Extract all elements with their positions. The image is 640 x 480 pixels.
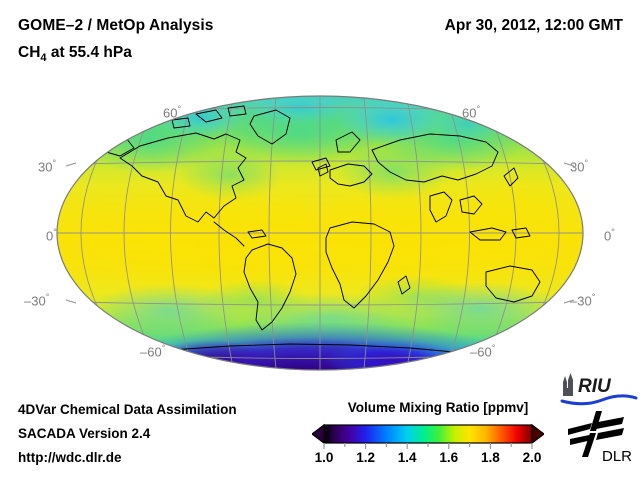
colorbar-tick-label-1: 1.2 [356,450,375,465]
global-map: 60° 60° 30° 30° 0° 0° –30° –30° –60° –60… [0,0,640,400]
colorbar-over-arrow [532,425,544,443]
colorbar-ramp [324,425,532,443]
colorbar-tick-label-4: 1.8 [481,450,500,465]
lat-label-0-left: 0° [46,227,57,243]
footer-line-url[interactable]: http://wdc.dlr.de [18,450,122,465]
colorbar-title: Volume Mixing Ratio [ppmv] [333,400,543,415]
colorbar-tick-label-0: 1.0 [315,450,334,465]
dlr-logo: DLR [566,409,636,465]
map-data-field [50,90,595,400]
lat-label-30n-right: 30° [570,158,588,174]
colorbar-under-arrow [312,425,324,443]
lat-label-0-right: 0° [604,227,615,243]
footer-line-method: 4DVar Chemical Data Assimilation [18,402,237,417]
lat-label-60n-left: 60° [163,104,181,120]
riu-logo: RIU [558,372,638,406]
riu-wordmark: RIU [578,376,612,397]
colorbar-tick-label-2: 1.4 [398,450,417,465]
lat-label-60s-left: –60° [140,343,165,359]
lat-label-30s-left: –30° [24,292,49,308]
lat-label-60s-right: –60° [470,343,495,359]
footer-line-version: SACADA Version 2.4 [18,426,150,441]
lat-label-60n-right: 60° [462,104,480,120]
map-canvas [0,0,640,400]
colorbar-tick-label-5: 2.0 [523,450,542,465]
cathedral-icon [563,373,573,396]
colorbar-ticks [312,443,544,450]
colorbar-tick-label-3: 1.6 [439,450,458,465]
dlr-wordmark: DLR [602,448,632,465]
colorbar-svg [312,423,544,445]
lat-label-30s-right: –30° [570,292,595,308]
lat-label-30n-left: 30° [38,158,56,174]
riu-swoosh [562,396,636,404]
colorbar [312,423,544,445]
